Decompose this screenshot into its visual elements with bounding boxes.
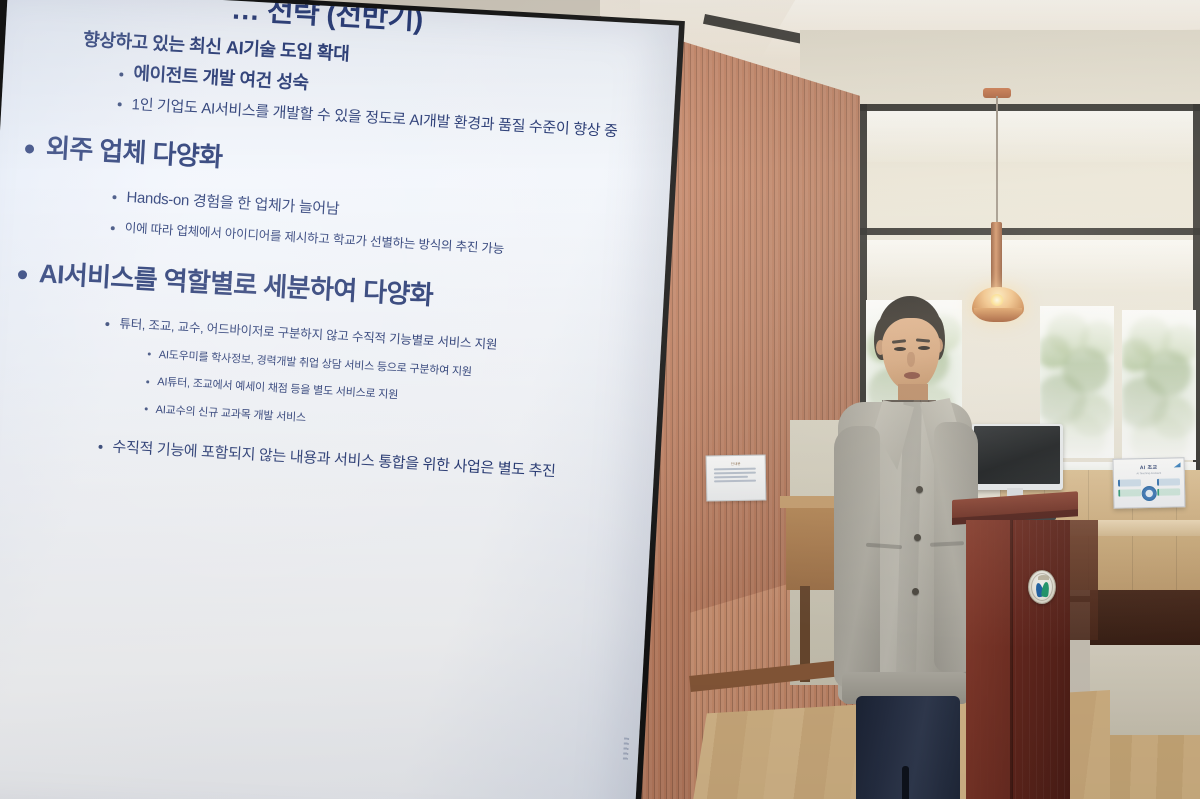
slide-bullet-text: 이에 따라 업체에서 아이디어를 제시하고 학교가 선별하는 방식의 추진 가능: [124, 221, 504, 256]
slide-bullet-text: 튜터, 조교, 교수, 어드바이저로 구분하지 않고 수직적 기능별로 서비스 …: [119, 317, 497, 352]
jacket-button: [916, 486, 923, 493]
jacket-button: [912, 588, 919, 595]
slide-bullet-text: AI도우미를 학사정보, 경력개발 취업 상담 서비스 등으로 구분하여 지원: [158, 349, 472, 378]
slide-bullet-text: AI튜터, 조교에서 예세이 채점 등을 별도 서비스로 지원: [157, 376, 398, 401]
projection-screen: … 전략 (전반기)향상하고 있는 최신 AI기술 도입 확대에이전트 개발 여…: [0, 0, 679, 799]
mouth: [904, 372, 920, 379]
slide-bullet-line: 수직적 기능에 포함되지 않는 내용과 서비스 통합을 위한 사업은 별도 추진: [98, 439, 640, 485]
bullet-icon: [146, 380, 149, 383]
bullet-icon: [118, 103, 122, 107]
dark-wood-shelf: [1090, 590, 1200, 648]
bullet-icon: [112, 195, 116, 199]
slide-bullet-text: 수직적 기능에 포함되지 않는 내용과 서비스 통합을 위한 사업은 별도 추진: [112, 439, 556, 481]
bullet-icon: [148, 353, 151, 356]
bullet-icon: [98, 445, 102, 449]
slide-bullet-text: AI서비스를 역할별로 세분하여 다양화: [38, 258, 434, 310]
lamp-stem: [991, 222, 1002, 294]
poster-card: [1157, 488, 1180, 495]
photo-scene: 안내문 AI 조교 AI Teaching Assistant: [0, 0, 1200, 799]
slide-bullet-line: AI서비스를 역할별로 세분하여 다양화: [17, 259, 650, 322]
slide-bullet-text: 에이전트 개발 여건 성숙: [133, 63, 309, 93]
glass-notice-paper: 안내문: [706, 454, 767, 501]
presenter: [830, 296, 980, 799]
window-glare-right: [1122, 310, 1196, 460]
bullet-icon: [105, 322, 109, 326]
poster-subtitle: AI Teaching Assistant: [1114, 471, 1184, 475]
slide-bullet-text: Hands-on 경험을 한 업체가 늘어남: [126, 189, 340, 218]
podium-left-face: [966, 520, 1012, 799]
jacket-button: [914, 534, 921, 541]
bullet-icon: [145, 408, 148, 411]
bullet-icon: [18, 270, 27, 279]
emblem-crown: [1038, 575, 1049, 580]
jeans-inseam: [902, 766, 909, 799]
window-right: [1122, 310, 1196, 460]
slide-bullet-text: 외주 업체 다양화: [45, 132, 223, 172]
eye-right: [918, 346, 930, 350]
bullet-icon: [111, 226, 115, 230]
podium-corner-edge: [1010, 520, 1013, 799]
notice-line: [714, 472, 756, 474]
bullet-icon: [119, 72, 123, 76]
poster-logo-icon: [1142, 486, 1157, 501]
notice-line: [714, 480, 756, 482]
poster-card: [1157, 478, 1180, 485]
notice-line: [714, 476, 748, 478]
notice-line: [714, 468, 756, 470]
slide-content: … 전략 (전반기)향상하고 있는 최신 AI기술 도입 확대에이전트 개발 여…: [0, 0, 679, 799]
slide-bullet-text: 향상하고 있는 최신 AI기술 도입 확대: [83, 30, 350, 65]
notice-heading: 안내문: [712, 461, 760, 467]
slide-bullet-line: 외주 업체 다양화: [24, 133, 657, 196]
ai-assistant-poster: AI 조교 AI Teaching Assistant: [1112, 457, 1185, 508]
monitor-screen[interactable]: [974, 426, 1060, 484]
eye-left: [894, 347, 906, 351]
slide-bullet-text: AI교수의 신규 교과목 개발 서비스: [155, 404, 306, 424]
bullet-icon: [25, 144, 34, 153]
poster-title: AI 조교: [1114, 463, 1184, 471]
jacket-sleeve-left: [834, 426, 880, 688]
university-emblem-icon: [1028, 570, 1056, 604]
poster-card: [1118, 479, 1141, 486]
poster-card: [1118, 489, 1141, 496]
nose: [907, 352, 915, 367]
lamp-bulb: [990, 294, 1004, 306]
